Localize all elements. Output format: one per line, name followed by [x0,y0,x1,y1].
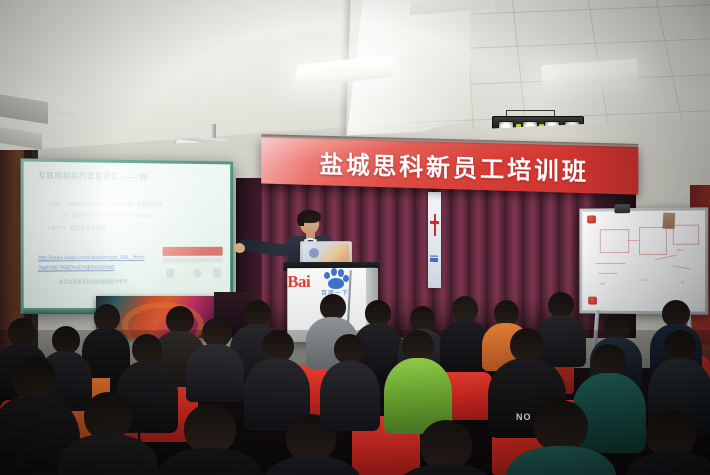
presenter-hair [297,214,304,226]
vertical-banner-character [430,254,438,262]
whiteboard-clip [614,204,630,213]
projection-screen: 互联网相关的常见词汇——I 网 URL：Uniform Resource Loc… [24,162,231,311]
laptop-screen [303,243,349,264]
audience-member [320,334,376,426]
whiteboard-sticky-note [662,212,675,229]
whiteboard-surface: abc x=1 net ip [582,210,705,311]
audience-member [394,420,494,475]
vertical-banner [428,192,441,288]
whiteboard-magnet [588,297,597,305]
audience-member [506,400,612,475]
cross-mark-icon [430,221,439,224]
baidu-paw-icon [323,268,349,290]
lecture-hall-photo: 盐城思科新员工培训班 互联网相关的常见词汇——I 网 URL：Uniform R… [0,0,710,475]
baidu-wordmark: Bai [287,272,310,292]
whiteboard-magnet [587,215,596,223]
audience-member [58,392,154,475]
projection-screen-frame: 互联网相关的常见词汇——I 网 URL：Uniform Resource Loc… [21,158,233,313]
cross-mark-icon [434,214,437,236]
audience-member [624,410,710,475]
audience-member [186,318,242,398]
audience-member [384,330,448,430]
presenter-extended-arm [237,238,294,258]
whiteboard: abc x=1 net ip [579,207,708,314]
audience-member [156,404,260,475]
